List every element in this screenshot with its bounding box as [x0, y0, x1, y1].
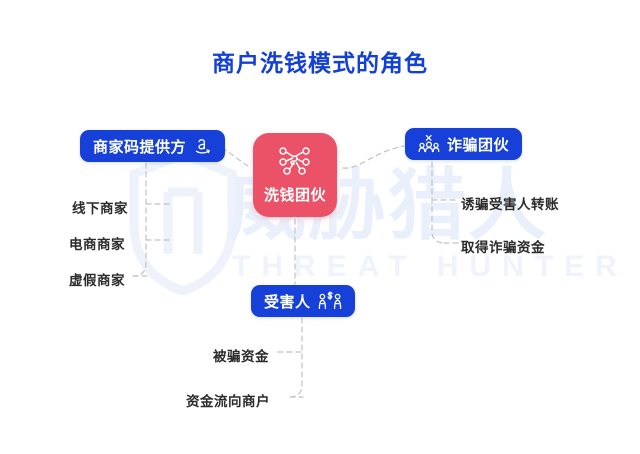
page-title: 商户洗钱模式的角色 [0, 44, 640, 78]
node-center-label: 洗钱团伙 [264, 184, 326, 205]
fraud-group-icon [418, 134, 440, 154]
node-fraud-gang[interactable]: 诈骗团伙 [405, 128, 522, 160]
connector-center-fraud [343, 146, 404, 168]
diagram-canvas: 威胁猎人 THREAT HUNTER 商户洗钱模式的角色 [0, 0, 640, 454]
leaf-victim-0: 被骗资金 [213, 345, 269, 365]
leaf-victim-1: 资金流向商户 [186, 390, 270, 410]
node-victim[interactable]: 受害人 [251, 285, 355, 317]
network-nodes-icon [277, 145, 313, 180]
connector-fraud-spine [432, 162, 444, 243]
leaf-provider-0: 线下商家 [72, 197, 128, 217]
leaf-provider-1: 电商商家 [69, 233, 125, 253]
node-victim-label: 受害人 [264, 291, 311, 312]
leaf-provider-2: 虚假商家 [69, 269, 125, 289]
node-fraud-label: 诈骗团伙 [447, 134, 509, 155]
connector-provider-spine [133, 163, 146, 276]
leaf-fraud-0: 诱骗受害人转账 [461, 193, 559, 213]
node-provider-label: 商家码提供方 [93, 136, 186, 157]
connector-victim-spine [290, 318, 302, 397]
merchant-code-a-icon [193, 137, 212, 156]
node-merchant-code-provider[interactable]: 商家码提供方 [80, 130, 225, 162]
victim-people-money-icon [318, 291, 342, 311]
leaf-fraud-1: 取得诈骗资金 [461, 236, 545, 256]
node-money-laundering-gang[interactable]: 洗钱团伙 [253, 133, 337, 217]
